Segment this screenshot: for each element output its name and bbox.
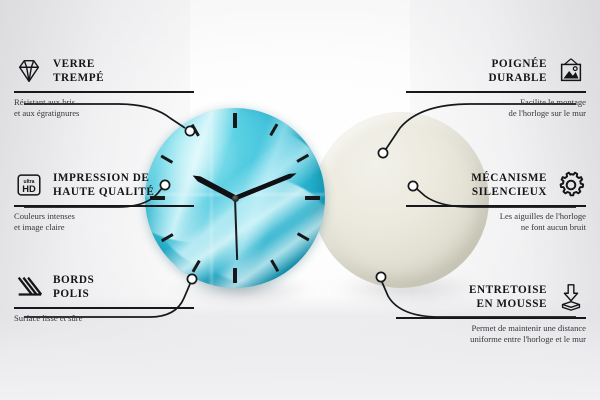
feature-title: BORDSPOLIS (53, 273, 94, 302)
feature-header: POIGNÉEDURABLE (406, 56, 586, 86)
divider (396, 317, 586, 319)
feature-title: IMPRESSION DEHAUTE QUALITÉ (53, 171, 154, 200)
feature-description: Couleurs intenseset image claire (14, 211, 194, 234)
feature-bords-polis: BORDSPOLIS Surface lisse et sûre (14, 272, 194, 324)
divider (14, 307, 194, 309)
feature-header: ENTRETOISEEN MOUSSE (396, 282, 586, 312)
feature-title: ENTRETOISEEN MOUSSE (469, 283, 547, 312)
connector-dot-verre-trempe (185, 126, 194, 135)
gear-icon (556, 170, 586, 200)
feature-header: ultra HD IMPRESSION DEHAUTE QUALITÉ (14, 170, 194, 200)
feature-poignee-durable: POIGNÉEDURABLE Facilite le montagede l'h… (406, 56, 586, 120)
connector-dot-poignee (378, 148, 387, 157)
wall-hanging-frame-icon (556, 56, 586, 86)
feature-description: Les aiguilles de l'horlogene font aucun … (406, 211, 586, 234)
divider (406, 91, 586, 93)
svg-text:HD: HD (22, 184, 36, 194)
feature-description: Surface lisse et sûre (14, 313, 194, 325)
feature-title: POIGNÉEDURABLE (488, 57, 547, 86)
infographic-canvas: VERRETREMPÉ Résistant aux briset aux égr… (0, 0, 600, 400)
feature-header: MÉCANISMESILENCIEUX (406, 170, 586, 200)
ultra-hd-icon: ultra HD (14, 170, 44, 200)
divider (406, 205, 586, 207)
feature-impression-haute-qualite: ultra HD IMPRESSION DEHAUTE QUALITÉ Coul… (14, 170, 194, 234)
polished-edges-icon (14, 272, 44, 302)
foam-spacer-arrow-icon (556, 282, 586, 312)
divider (14, 91, 194, 93)
feature-description: Résistant aux briset aux égratignures (14, 97, 194, 120)
connector-dot-entretoise (376, 272, 385, 281)
feature-title: VERRETREMPÉ (53, 57, 104, 86)
feature-description: Permet de maintenir une distanceuniforme… (396, 323, 586, 346)
feature-entretoise-en-mousse: ENTRETOISEEN MOUSSE Permet de maintenir … (396, 282, 586, 346)
feature-verre-trempe: VERRETREMPÉ Résistant aux briset aux égr… (14, 56, 194, 120)
feature-header: VERRETREMPÉ (14, 56, 194, 86)
diamond-icon (14, 56, 44, 86)
divider (14, 205, 194, 207)
feature-title: MÉCANISMESILENCIEUX (471, 171, 547, 200)
feature-header: BORDSPOLIS (14, 272, 194, 302)
feature-mecanisme-silencieux: MÉCANISMESILENCIEUX Les aiguilles de l'h… (406, 170, 586, 234)
feature-description: Facilite le montagede l'horloge sur le m… (406, 97, 586, 120)
